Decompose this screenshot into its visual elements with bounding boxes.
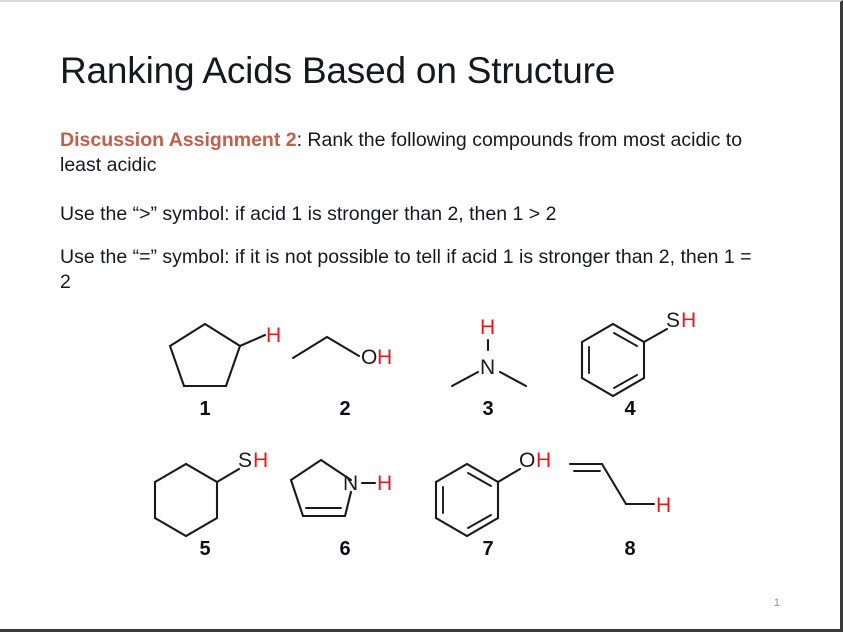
structure-label-3: 3 (408, 398, 568, 421)
greater-than-rule: Use the “>” symbol: if acid 1 is stronge… (60, 202, 760, 227)
page-title: Ranking Acids Based on Structure (60, 50, 615, 92)
structure-5-cyclohexanethiol: S H 5 (125, 442, 285, 572)
atom-h-label: H (480, 316, 495, 339)
slide-canvas: Ranking Acids Based on Structure Discuss… (0, 0, 843, 632)
dimethylamine-diagram: H N (408, 302, 568, 402)
page-number: 1 (774, 597, 780, 609)
slide-body: Ranking Acids Based on Structure Discuss… (0, 2, 838, 626)
equals-rule: Use the “=” symbol: if it is not possibl… (60, 245, 760, 295)
structure-label-5: 5 (125, 538, 285, 561)
ethanol-diagram: O H (265, 302, 425, 402)
structure-label-7: 7 (408, 538, 568, 561)
structure-label-4: 4 (550, 398, 710, 421)
atom-o-label: O (361, 346, 377, 369)
structure-label-6: 6 (265, 538, 425, 561)
phenol-diagram: O H (408, 442, 568, 542)
atom-s-label: S (238, 449, 252, 472)
propene-allylic-h-diagram: H (550, 442, 710, 542)
assignment-paragraph: Discussion Assignment 2: Rank the follow… (60, 128, 760, 178)
atom-s-label: S (666, 309, 680, 332)
dihydropyrrole-diagram: N H (265, 442, 425, 542)
atom-o-label: O (519, 449, 535, 472)
atom-h-label: H (377, 472, 392, 495)
atom-h-label: H (536, 449, 551, 472)
structure-8-propene: H 8 (550, 442, 710, 572)
cyclohexanethiol-diagram: S H (125, 442, 285, 542)
structure-row-bottom: S H 5 N H 6 (0, 442, 838, 572)
structure-3-dimethylamine: H N 3 (408, 302, 568, 432)
structure-6-dihydropyrrole: N H 6 (265, 442, 425, 572)
structure-2-ethanol: O H 2 (265, 302, 425, 432)
atom-n-label: N (480, 356, 495, 379)
thiophenol-diagram: S H (550, 302, 710, 402)
atom-h-label: H (681, 309, 696, 332)
structure-4-thiophenol: S H 4 (550, 302, 710, 432)
structure-label-1: 1 (125, 398, 285, 421)
structure-row-top: H 1 O H 2 H (0, 302, 838, 432)
atom-h-label: H (377, 346, 392, 369)
cyclopentane-with-h-diagram: H (125, 302, 285, 402)
assignment-label: Discussion Assignment 2 (60, 129, 297, 151)
structure-label-2: 2 (265, 398, 425, 421)
structure-1-cyclopentane: H 1 (125, 302, 285, 432)
structure-7-phenol: O H 7 (408, 442, 568, 572)
structure-grid: H 1 O H 2 H (0, 302, 838, 572)
atom-n-label: N (343, 472, 358, 495)
atom-h-label: H (656, 494, 671, 517)
structure-label-8: 8 (550, 538, 710, 561)
